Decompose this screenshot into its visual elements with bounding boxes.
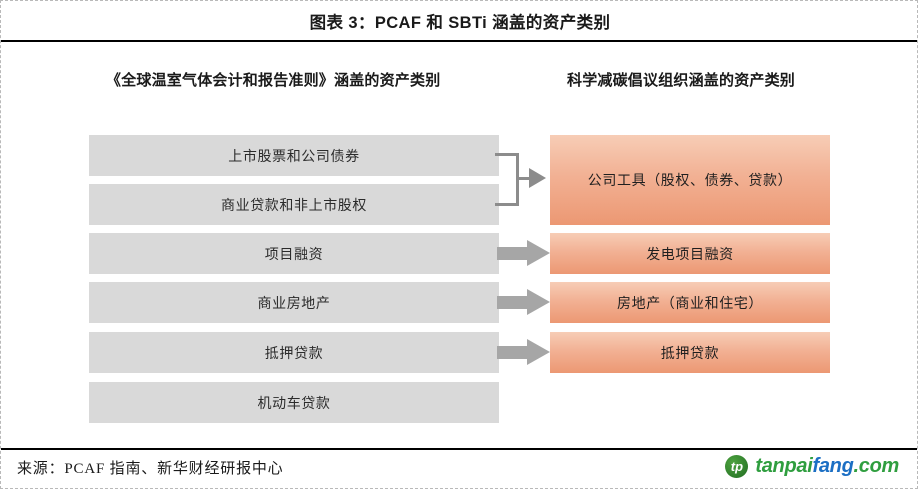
brand-logo[interactable]: tp tanpaifang.com (725, 455, 899, 478)
arrow-head (527, 339, 550, 365)
left-item-label: 商业贷款和非上市股权 (221, 195, 367, 215)
left-item-commercial-real-estate: 商业房地产 (89, 282, 499, 323)
right-item-label: 房地产（商业和住宅） (617, 293, 763, 313)
arrow-head (527, 289, 550, 315)
left-item-label: 上市股票和公司债券 (228, 146, 359, 166)
tanpaifang-logo-icon: tp (725, 455, 748, 478)
arrow-real-estate-icon (497, 289, 550, 315)
right-item-label: 发电项目融资 (646, 244, 734, 264)
arrow-head (527, 240, 550, 266)
left-item-label: 抵押贷款 (265, 343, 323, 363)
left-item-listed-equity-corporate-bonds: 上市股票和公司债券 (89, 135, 499, 176)
right-item-label: 公司工具（股权、债券、贷款） (588, 170, 792, 190)
brand-word-part1: tanpai (755, 455, 812, 477)
right-item-corporate-instruments: 公司工具（股权、债券、贷款） (550, 135, 830, 225)
left-item-motor-vehicle-loans: 机动车贷款 (89, 382, 499, 423)
source-note: 来源：PCAF 指南、新华财经研报中心 (17, 457, 283, 478)
right-item-label: 抵押贷款 (661, 343, 719, 363)
bracket-arrow-head-icon (529, 168, 546, 188)
left-column-header: 《全球温室气体会计和报告准则》涵盖的资产类别 (106, 69, 466, 92)
right-column-header: 科学减碳倡议组织涵盖的资产类别 (567, 69, 847, 92)
page-title: 图表 3：PCAF 和 SBTi 涵盖的资产类别 (310, 9, 611, 33)
right-item-mortgages: 抵押贷款 (550, 332, 830, 373)
arrow-mortgages-icon (497, 339, 550, 365)
left-item-label: 商业房地产 (258, 293, 331, 313)
arrow-shaft (497, 247, 529, 260)
left-item-business-loans-unlisted-equity: 商业贷款和非上市股权 (89, 184, 499, 225)
left-item-label: 项目融资 (265, 244, 323, 264)
brand-word-part3: .com (854, 455, 899, 477)
title-divider (1, 40, 918, 42)
brand-wordmark: tanpaifang.com (755, 455, 899, 478)
right-item-power-project-finance: 发电项目融资 (550, 233, 830, 274)
footer-divider (1, 448, 918, 450)
left-item-mortgages: 抵押贷款 (89, 332, 499, 373)
right-item-real-estate: 房地产（商业和住宅） (550, 282, 830, 323)
arrow-shaft (497, 346, 529, 359)
figure-container: 图表 3：PCAF 和 SBTi 涵盖的资产类别 《全球温室气体会计和报告准则》… (0, 0, 918, 489)
arrow-project-finance-icon (497, 240, 550, 266)
left-item-project-finance: 项目融资 (89, 233, 499, 274)
brand-word-part2: fang (812, 455, 853, 477)
left-item-label: 机动车贷款 (258, 393, 331, 413)
arrow-shaft (497, 296, 529, 309)
figure-title-bar: 图表 3：PCAF 和 SBTi 涵盖的资产类别 (1, 1, 918, 40)
